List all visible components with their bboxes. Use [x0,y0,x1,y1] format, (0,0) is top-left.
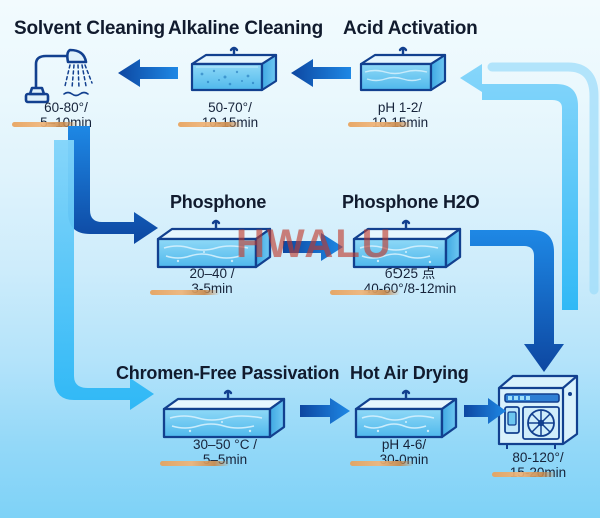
arrow-hot-air-to-oven [464,397,508,425]
step-title-phosphone: Phosphone [170,192,266,213]
underline-phosphone-h2o [330,290,400,295]
step-title-solvent-cleaning: Solvent Cleaning [14,18,165,40]
underline-acid-activation [348,122,412,127]
arrow-acid-to-alkaline [289,58,351,88]
arrow-alkaline-to-solvent [116,58,178,88]
underline-drying-oven [492,472,556,477]
tank-icon-alkaline-cleaning [184,46,280,102]
tank-icon-acid-activation [353,46,449,102]
arrow-passivation-to-hot-air [300,397,352,425]
underline-alkaline-cleaning [178,122,242,127]
arrow-phosphone-to-phosphone-h2o [283,232,345,262]
step-title-alkaline-cleaning: Alkaline Cleaning [168,18,323,40]
arrow-phosphone-h2o-to-oven [470,226,580,386]
step-title-acid-activation: Acid Activation [343,18,478,40]
step-title-phosphone-h2o: Phosphone H2O [342,192,479,213]
underline-chromen-free-passivation [160,461,230,466]
underline-hot-air-drying [350,461,414,466]
process-flow-diagram: Solvent Cleaning 60-80°/ 5–10min Alkalin… [0,0,600,518]
shower-icon [24,44,110,106]
step-title-hot-air-drying: Hot Air Drying [350,363,469,384]
step-title-chromen-free-passivation: Chromen-Free Passivation [116,363,339,384]
